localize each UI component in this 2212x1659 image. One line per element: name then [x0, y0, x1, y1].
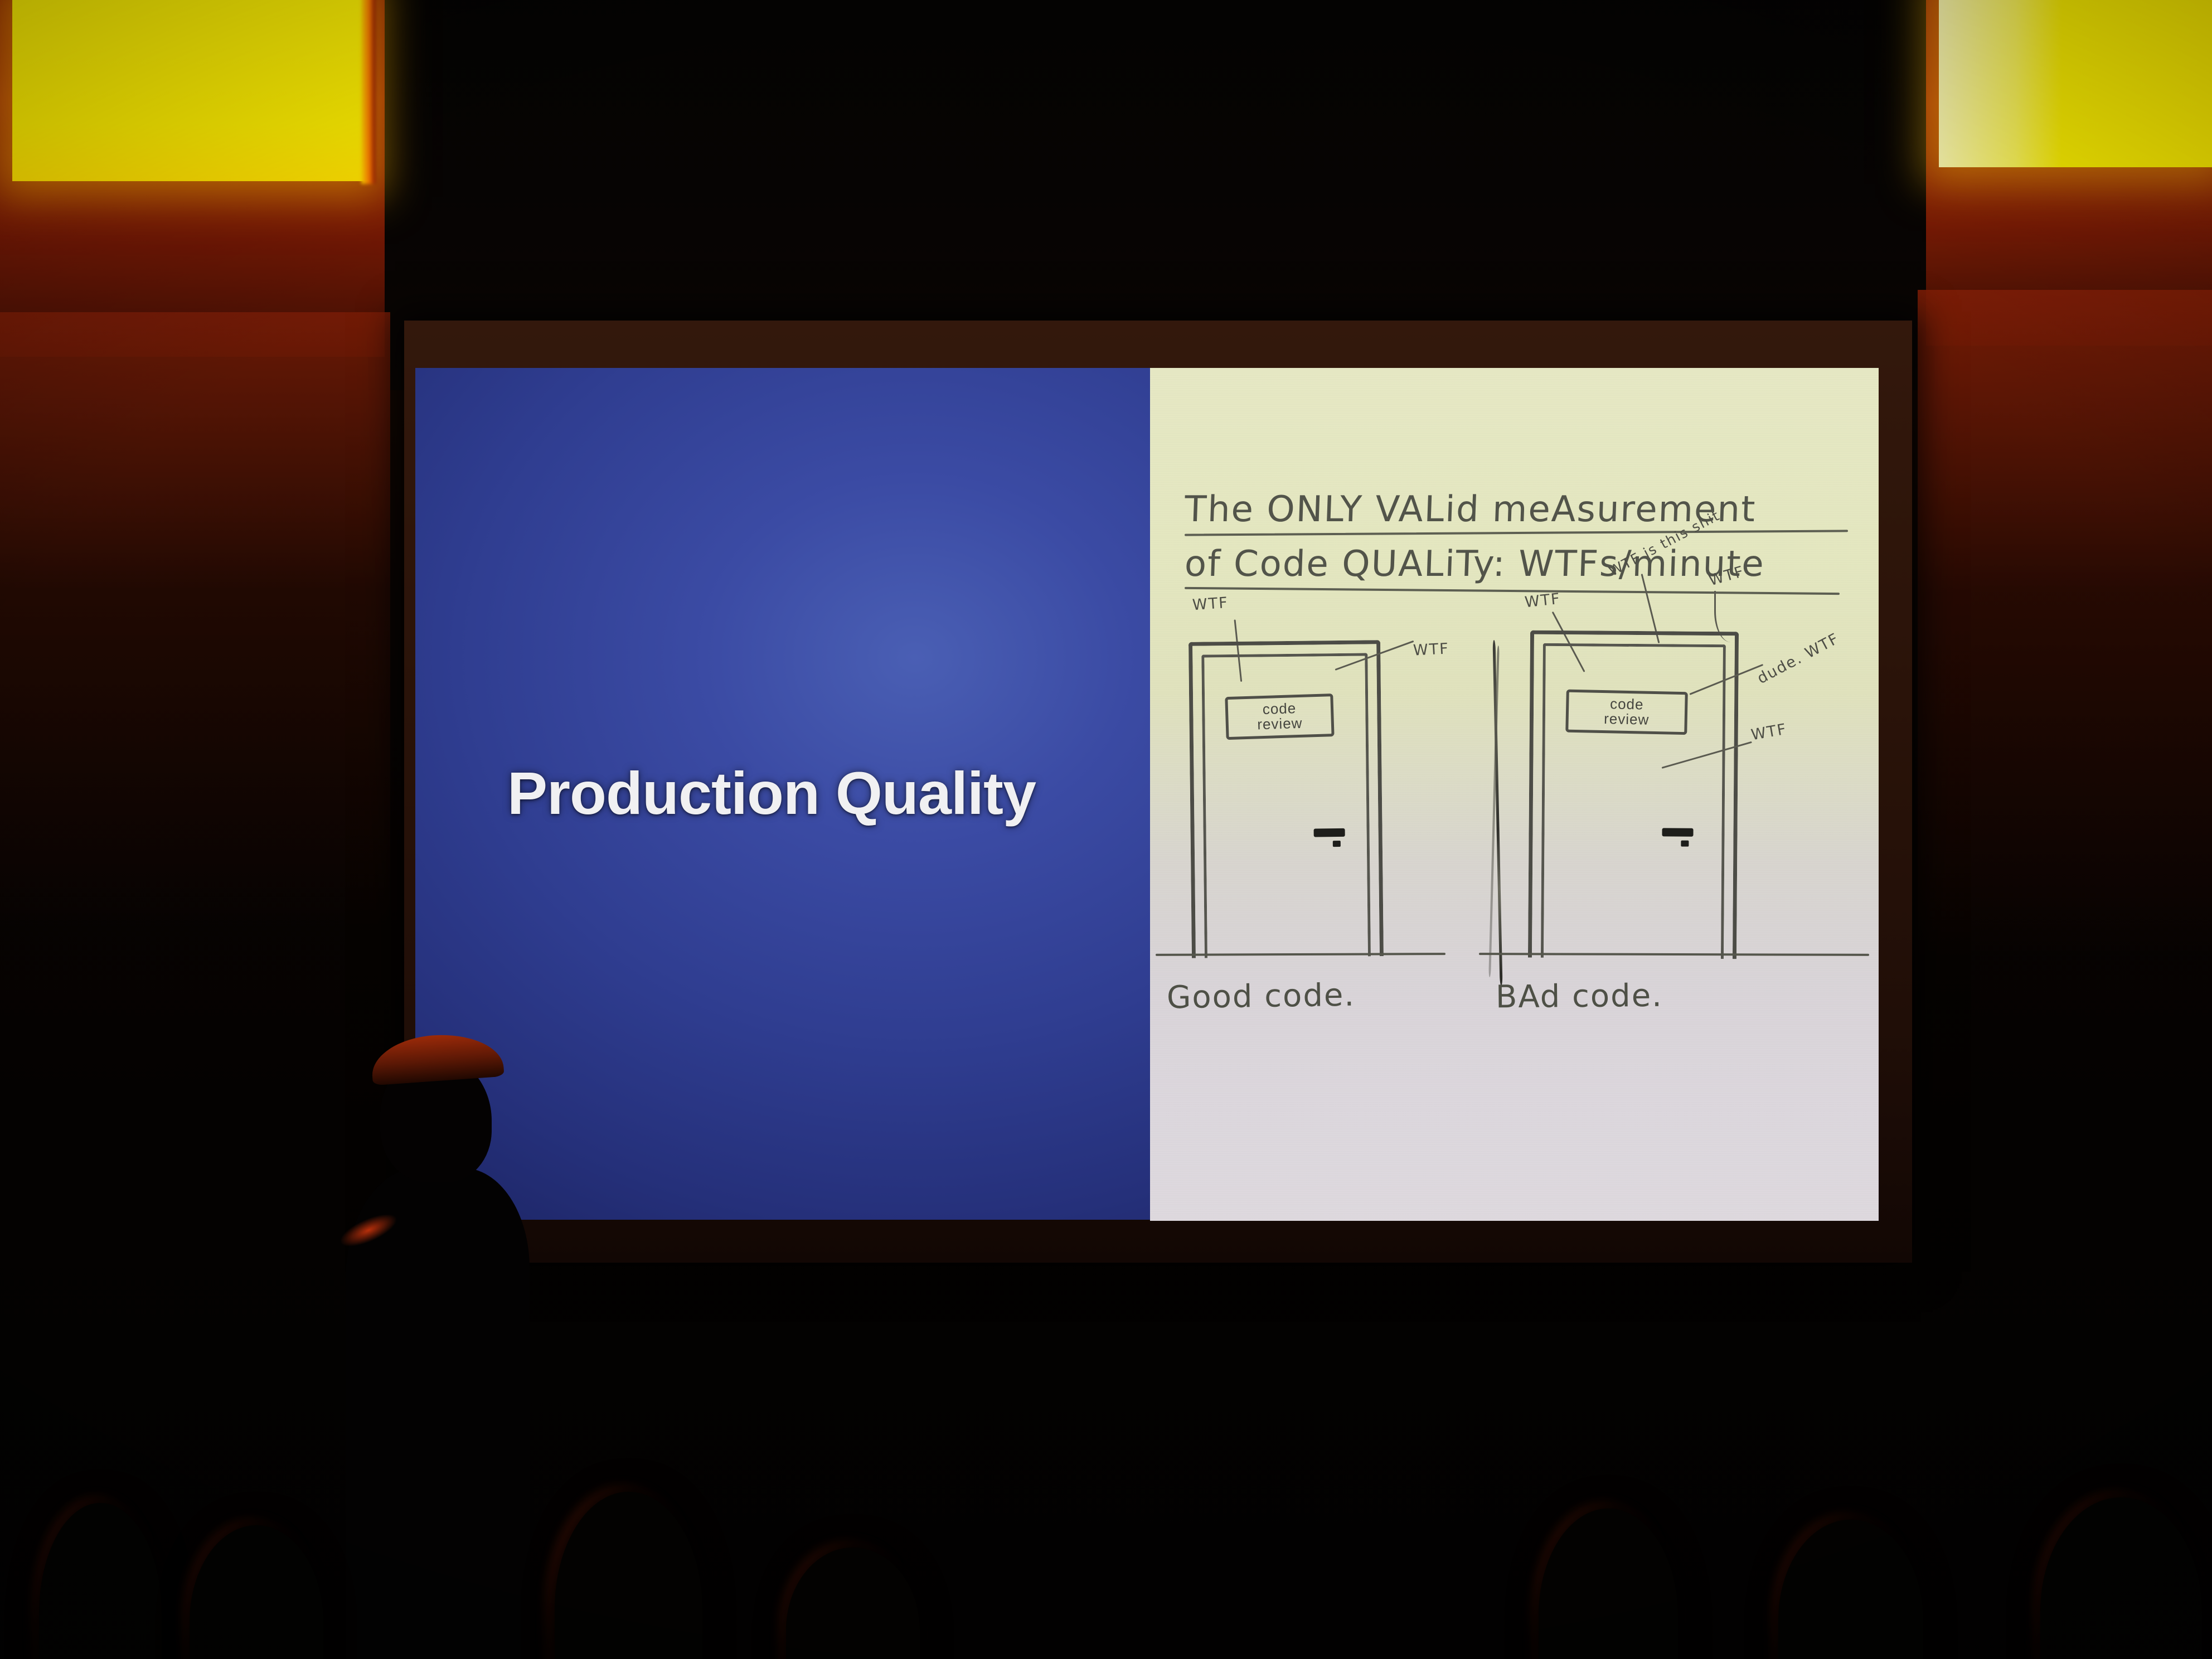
- door-sign-good-line-1: code: [1230, 700, 1329, 718]
- caption-bad-code: BAd code.: [1496, 978, 1663, 1016]
- annotation-good-wtf-1: WTF: [1192, 594, 1229, 614]
- page-title: Production Quality: [415, 758, 1150, 828]
- paper-crease-divider: [1491, 640, 1503, 986]
- door-good-code: code review: [1189, 640, 1384, 958]
- cartoon-heading: The ONLY VALid meAsurement of Code QUALi…: [1185, 492, 1848, 604]
- heading-underline-1: [1185, 530, 1848, 536]
- cartoon-heading-line-2: of Code QUALiTy: WTFs/minute: [1184, 546, 1849, 582]
- annotation-bad-wtf-1: WTF: [1524, 590, 1562, 612]
- door-sign-bad-code: code review: [1565, 690, 1688, 735]
- annotation-bad-wtf-3: WTF: [1750, 721, 1788, 744]
- screenshot-stage: Production Quality The ONLY VALid meAsur…: [0, 0, 2212, 1659]
- door-handle-bad-code: [1662, 828, 1693, 836]
- door-sign-bad-line-2: review: [1570, 711, 1682, 728]
- door-handle-good-code: [1314, 828, 1345, 837]
- window-light-left: [12, 0, 369, 181]
- annotation-bad-dude-wtf: dude. WTF: [1754, 630, 1842, 687]
- caption-good-code: Good code.: [1167, 977, 1356, 1016]
- presenter-cap: [370, 1031, 504, 1085]
- audience-silhouettes: [0, 1355, 2212, 1659]
- wall-glow-right: [1918, 290, 2212, 959]
- slide-right-cartoon-panel: The ONLY VALid meAsurement of Code QUALi…: [1150, 368, 1879, 1221]
- door-bad-code: code review: [1528, 630, 1739, 959]
- annotation-good-wtf-2: WTF: [1413, 640, 1449, 659]
- cartoon-heading-line-1: The ONLY VALid meAsurement: [1184, 492, 1849, 527]
- window-light-left-edge: [361, 0, 376, 184]
- window-light-right: [1939, 0, 2212, 167]
- door-sign-good-line-2: review: [1230, 715, 1329, 734]
- door-sign-good-code: code review: [1225, 693, 1334, 740]
- projected-slide: Production Quality The ONLY VALid meAsur…: [415, 368, 1879, 1221]
- wall-glow-left: [0, 312, 390, 925]
- door-sign-bad-line-1: code: [1571, 696, 1683, 713]
